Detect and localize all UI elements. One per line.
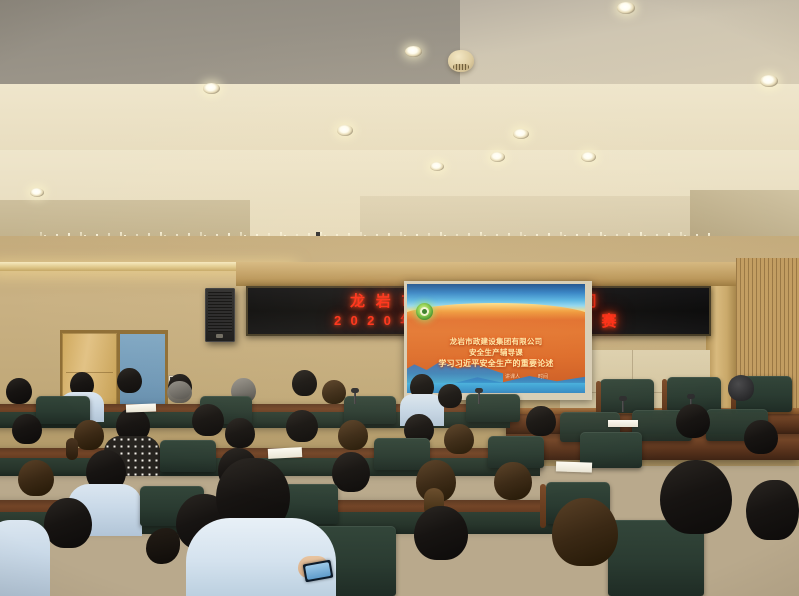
attendee-torso-foreground bbox=[526, 556, 652, 596]
attendee-head bbox=[167, 381, 192, 403]
recessed-downlight bbox=[581, 152, 596, 162]
head-chair[interactable] bbox=[600, 379, 654, 413]
recessed-downlight bbox=[617, 2, 635, 14]
slide-logo-center-icon bbox=[422, 309, 427, 314]
conference-hall-photo: 龙 岩 市 2 0 2 0 年 公 司 能 竞 赛 龙岩市政建设集团有限公司 安… bbox=[0, 0, 799, 596]
bag-on-chair bbox=[728, 375, 754, 401]
projection-screen: 龙岩市政建设集团有限公司 安全生产辅导课 学习习近平安全生产的重要论述 讲课人 … bbox=[407, 284, 585, 393]
row-chair[interactable] bbox=[36, 396, 90, 424]
desk-microphone-head bbox=[475, 388, 483, 393]
desk-microphone-head bbox=[687, 394, 695, 399]
recessed-downlight bbox=[203, 83, 220, 94]
speaker-badge-icon bbox=[216, 334, 223, 338]
slide-title-line1: 龙岩市政建设集团有限公司 bbox=[407, 336, 585, 347]
smoke-detector-vent bbox=[453, 64, 469, 70]
recessed-downlight bbox=[30, 188, 44, 197]
attendee-torso-front bbox=[0, 520, 50, 596]
desk-microphone-head bbox=[619, 396, 627, 401]
slide-title-line3: 学习习近平安全生产的重要论述 bbox=[407, 358, 585, 369]
door-panel-line bbox=[66, 372, 113, 373]
desk-microphone bbox=[478, 392, 480, 404]
document-paper bbox=[126, 403, 156, 412]
slide-footer-left: 讲课人 bbox=[505, 373, 520, 380]
attendee-torso-foreground bbox=[726, 530, 799, 596]
desk-microphone bbox=[354, 392, 356, 404]
row-chair-frame bbox=[540, 484, 546, 528]
recessed-downlight bbox=[337, 125, 353, 136]
recessed-downlight bbox=[430, 162, 444, 171]
slide-footer-right: 时间 bbox=[538, 373, 548, 380]
document-paper bbox=[268, 447, 302, 459]
document-paper bbox=[608, 420, 638, 427]
recessed-downlight bbox=[405, 46, 422, 57]
head-chair-frame bbox=[662, 379, 667, 414]
slide-title-line2: 安全生产辅导课 bbox=[407, 347, 585, 358]
recessed-downlight bbox=[760, 75, 778, 87]
desk-microphone-head bbox=[351, 388, 359, 393]
head-chair-frame bbox=[596, 381, 601, 415]
recessed-downlight bbox=[513, 129, 529, 139]
row-chair[interactable] bbox=[160, 440, 216, 472]
document-paper bbox=[556, 461, 592, 472]
speaker-grille bbox=[208, 292, 232, 332]
row-chair[interactable] bbox=[466, 394, 520, 422]
attendee-torso-front bbox=[396, 548, 492, 596]
recessed-downlight bbox=[490, 152, 505, 162]
desk-microphone bbox=[622, 400, 624, 412]
